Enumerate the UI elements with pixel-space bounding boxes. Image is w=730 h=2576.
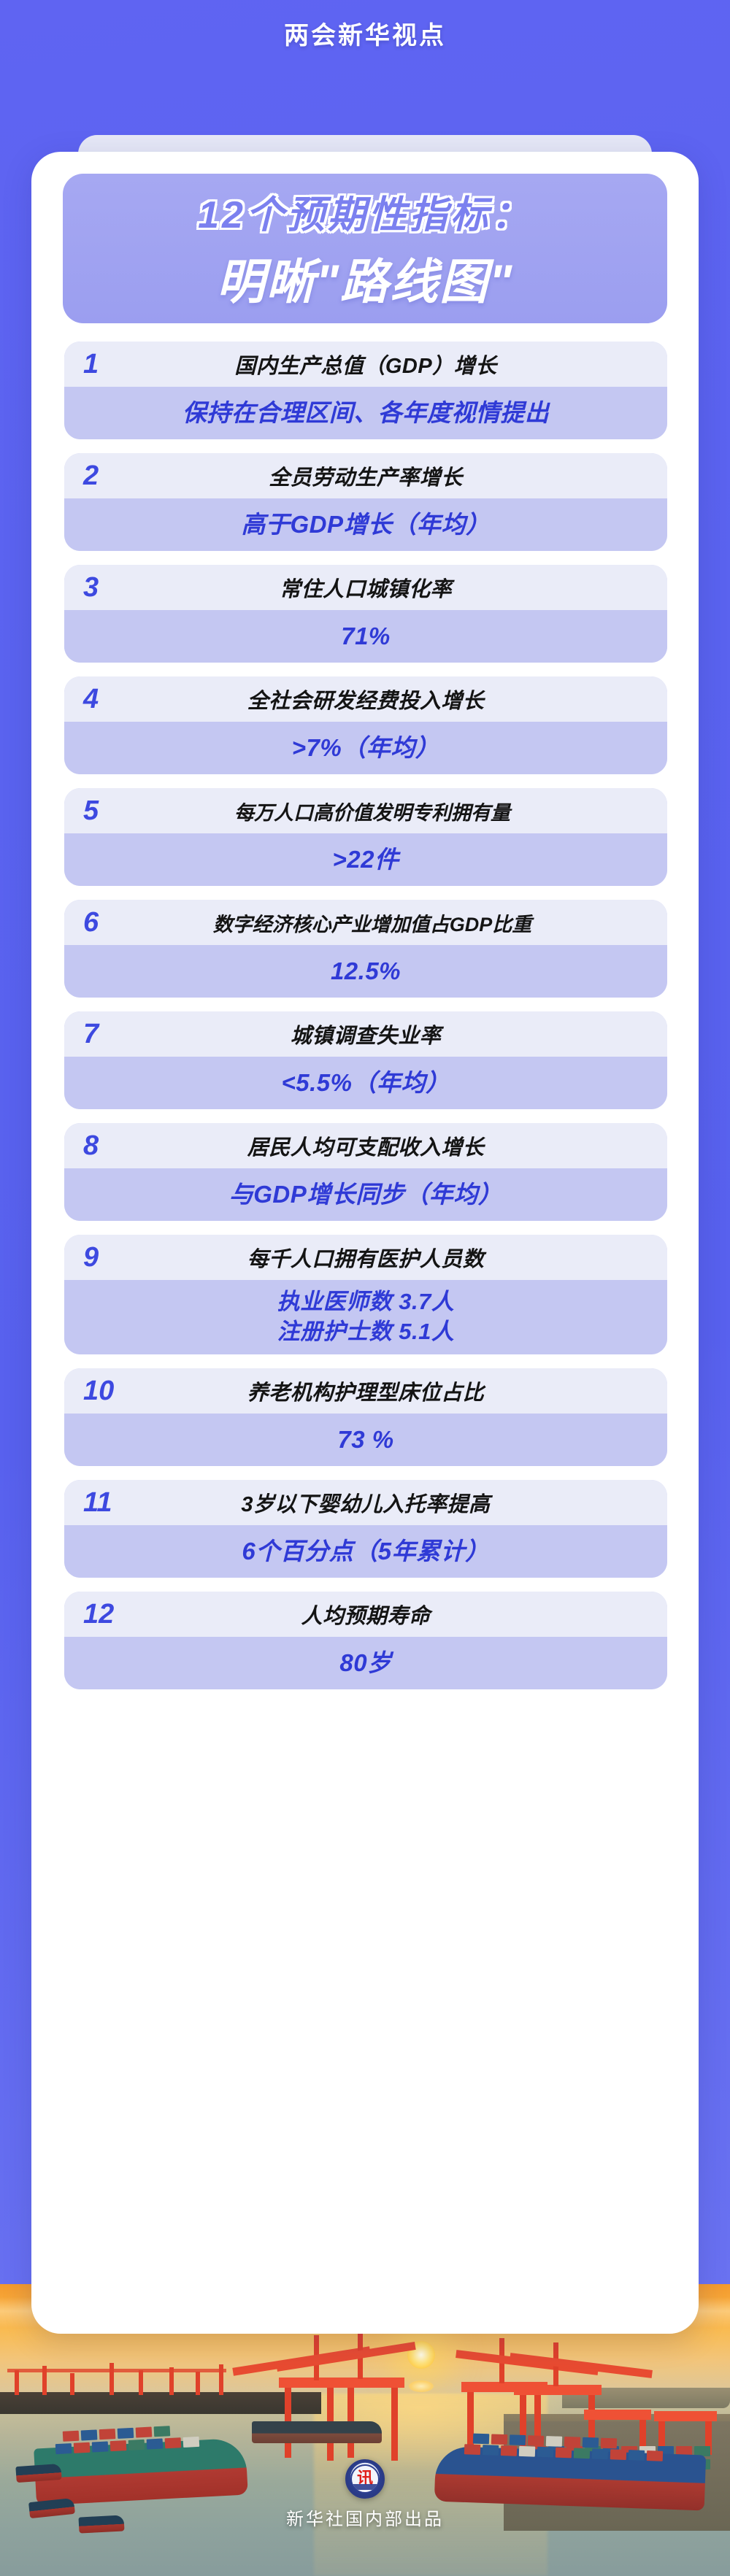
indicator-value-line: 73 %	[337, 1424, 393, 1456]
indicator-item: 113岁以下婴幼儿入托率提高6个百分点（5年累计）	[64, 1480, 667, 1578]
indicator-item: 5每万人口高价值发明专利拥有量>22件	[64, 788, 667, 886]
indicator-value-line: 71%	[341, 620, 391, 652]
indicator-item: 6数字经济核心产业增加值占GDP比重12.5%	[64, 900, 667, 998]
indicator-value: 71%	[64, 610, 667, 663]
indicator-item: 2全员劳动生产率增长高于GDP增长（年均）	[64, 453, 667, 551]
indicator-item: 4全社会研发经费投入增长>7%（年均）	[64, 676, 667, 774]
indicator-header: 5每万人口高价值发明专利拥有量	[64, 788, 667, 833]
indicator-number: 9	[83, 1243, 126, 1271]
indicator-header: 4全社会研发经费投入增长	[64, 676, 667, 722]
indicator-value-line: 注册护士数 5.1人	[277, 1317, 455, 1347]
indicator-title: 养老机构护理型床位占比	[126, 1376, 648, 1406]
indicator-value: 12.5%	[64, 945, 667, 998]
indicator-value-line: 80岁	[339, 1647, 391, 1679]
indicator-header: 8居民人均可支配收入增长	[64, 1123, 667, 1168]
indicator-header: 9每千人口拥有医护人员数	[64, 1235, 667, 1280]
indicator-value-line: 12.5%	[331, 955, 401, 987]
top-banner: 两会新华视点	[0, 0, 730, 66]
indicator-item: 10养老机构护理型床位占比73 %	[64, 1368, 667, 1466]
indicator-title: 全社会研发经费投入增长	[126, 684, 648, 714]
indicator-value-line: <5.5%（年均）	[282, 1067, 450, 1099]
indicator-title: 全员劳动生产率增长	[126, 460, 648, 491]
indicator-header: 1国内生产总值（GDP）增长	[64, 342, 667, 387]
indicator-value-line: >7%（年均）	[292, 732, 439, 764]
barge	[252, 2421, 382, 2443]
indicator-item: 1国内生产总值（GDP）增长保持在合理区间、各年度视情提出	[64, 342, 667, 439]
indicator-value: 6个百分点（5年累计）	[64, 1525, 667, 1578]
indicator-number: 1	[83, 350, 126, 378]
indicator-number: 4	[83, 685, 126, 713]
sun-glow	[409, 2380, 434, 2392]
indicator-header: 10养老机构护理型床位占比	[64, 1368, 667, 1414]
xinhua-logo-inner: 讯	[350, 2464, 380, 2494]
indicator-value: >22件	[64, 833, 667, 886]
indicator-title: 每万人口高价值发明专利拥有量	[126, 797, 648, 825]
indicator-value: 73 %	[64, 1414, 667, 1466]
indicator-value: 80岁	[64, 1637, 667, 1689]
indicator-value-line: 6个百分点（5年累计）	[242, 1535, 489, 1567]
indicator-title: 每千人口拥有医护人员数	[126, 1242, 648, 1273]
footer-credit: 新华社国内部出品	[286, 2504, 444, 2530]
indicator-value-line: 执业医师数 3.7人	[277, 1287, 455, 1317]
indicator-value: 执业医师数 3.7人注册护士数 5.1人	[64, 1280, 667, 1354]
indicator-value: >7%（年均）	[64, 722, 667, 774]
indicator-header: 3常住人口城镇化率	[64, 565, 667, 610]
footer: 讯 新华社国内部出品	[0, 2459, 730, 2530]
banner-title: 两会新华视点	[284, 15, 446, 51]
indicator-header: 12人均预期寿命	[64, 1592, 667, 1637]
indicator-item: 12人均预期寿命80岁	[64, 1592, 667, 1689]
indicator-value: 保持在合理区间、各年度视情提出	[64, 387, 667, 439]
indicator-header: 7城镇调查失业率	[64, 1011, 667, 1057]
logo-band	[352, 2484, 378, 2490]
indicator-number: 8	[83, 1132, 126, 1160]
indicator-item: 9每千人口拥有医护人员数执业医师数 3.7人注册护士数 5.1人	[64, 1235, 667, 1354]
indicator-number: 2	[83, 462, 126, 490]
indicator-number: 6	[83, 909, 126, 936]
indicator-title: 居民人均可支配收入增长	[126, 1130, 648, 1161]
indicator-value-line: 保持在合理区间、各年度视情提出	[182, 397, 550, 429]
indicator-value-line: 高于GDP增长（年均）	[241, 509, 490, 541]
indicator-title: 数字经济核心产业增加值占GDP比重	[126, 909, 648, 937]
indicator-item: 7城镇调查失业率<5.5%（年均）	[64, 1011, 667, 1109]
indicator-value: <5.5%（年均）	[64, 1057, 667, 1109]
indicator-item: 3常住人口城镇化率71%	[64, 565, 667, 663]
indicator-header: 113岁以下婴幼儿入托率提高	[64, 1480, 667, 1525]
indicator-header: 2全员劳动生产率增长	[64, 453, 667, 498]
indicator-value: 与GDP增长同步（年均）	[64, 1168, 667, 1221]
indicator-value-line: >22件	[333, 844, 399, 876]
title-line-1: 12个预期性指标：	[198, 184, 532, 239]
indicator-title: 国内生产总值（GDP）增长	[126, 349, 648, 379]
infographic-title-card: 12个预期性指标： 明晰"路线图"	[63, 174, 667, 323]
xinhua-logo-icon: 讯	[345, 2459, 385, 2499]
indicator-number: 11	[83, 1489, 126, 1516]
indicator-title: 常住人口城镇化率	[126, 572, 648, 603]
indicator-value-line: 与GDP增长同步（年均）	[229, 1179, 503, 1211]
indicator-title: 城镇调查失业率	[126, 1019, 648, 1049]
indicator-header: 6数字经济核心产业增加值占GDP比重	[64, 900, 667, 945]
indicator-number: 10	[83, 1377, 126, 1405]
indicator-title: 人均预期寿命	[126, 1599, 648, 1630]
indicator-number: 3	[83, 574, 126, 601]
indicator-value: 高于GDP增长（年均）	[64, 498, 667, 551]
left-quay	[0, 2392, 321, 2414]
indicator-number: 12	[83, 1600, 126, 1628]
indicator-number: 7	[83, 1020, 126, 1048]
indicator-list: 1国内生产总值（GDP）增长保持在合理区间、各年度视情提出2全员劳动生产率增长高…	[64, 342, 667, 1703]
indicator-item: 8居民人均可支配收入增长与GDP增长同步（年均）	[64, 1123, 667, 1221]
indicator-number: 5	[83, 797, 126, 825]
indicator-title: 3岁以下婴幼儿入托率提高	[126, 1487, 648, 1518]
title-line-2: 明晰"路线图"	[217, 243, 514, 313]
